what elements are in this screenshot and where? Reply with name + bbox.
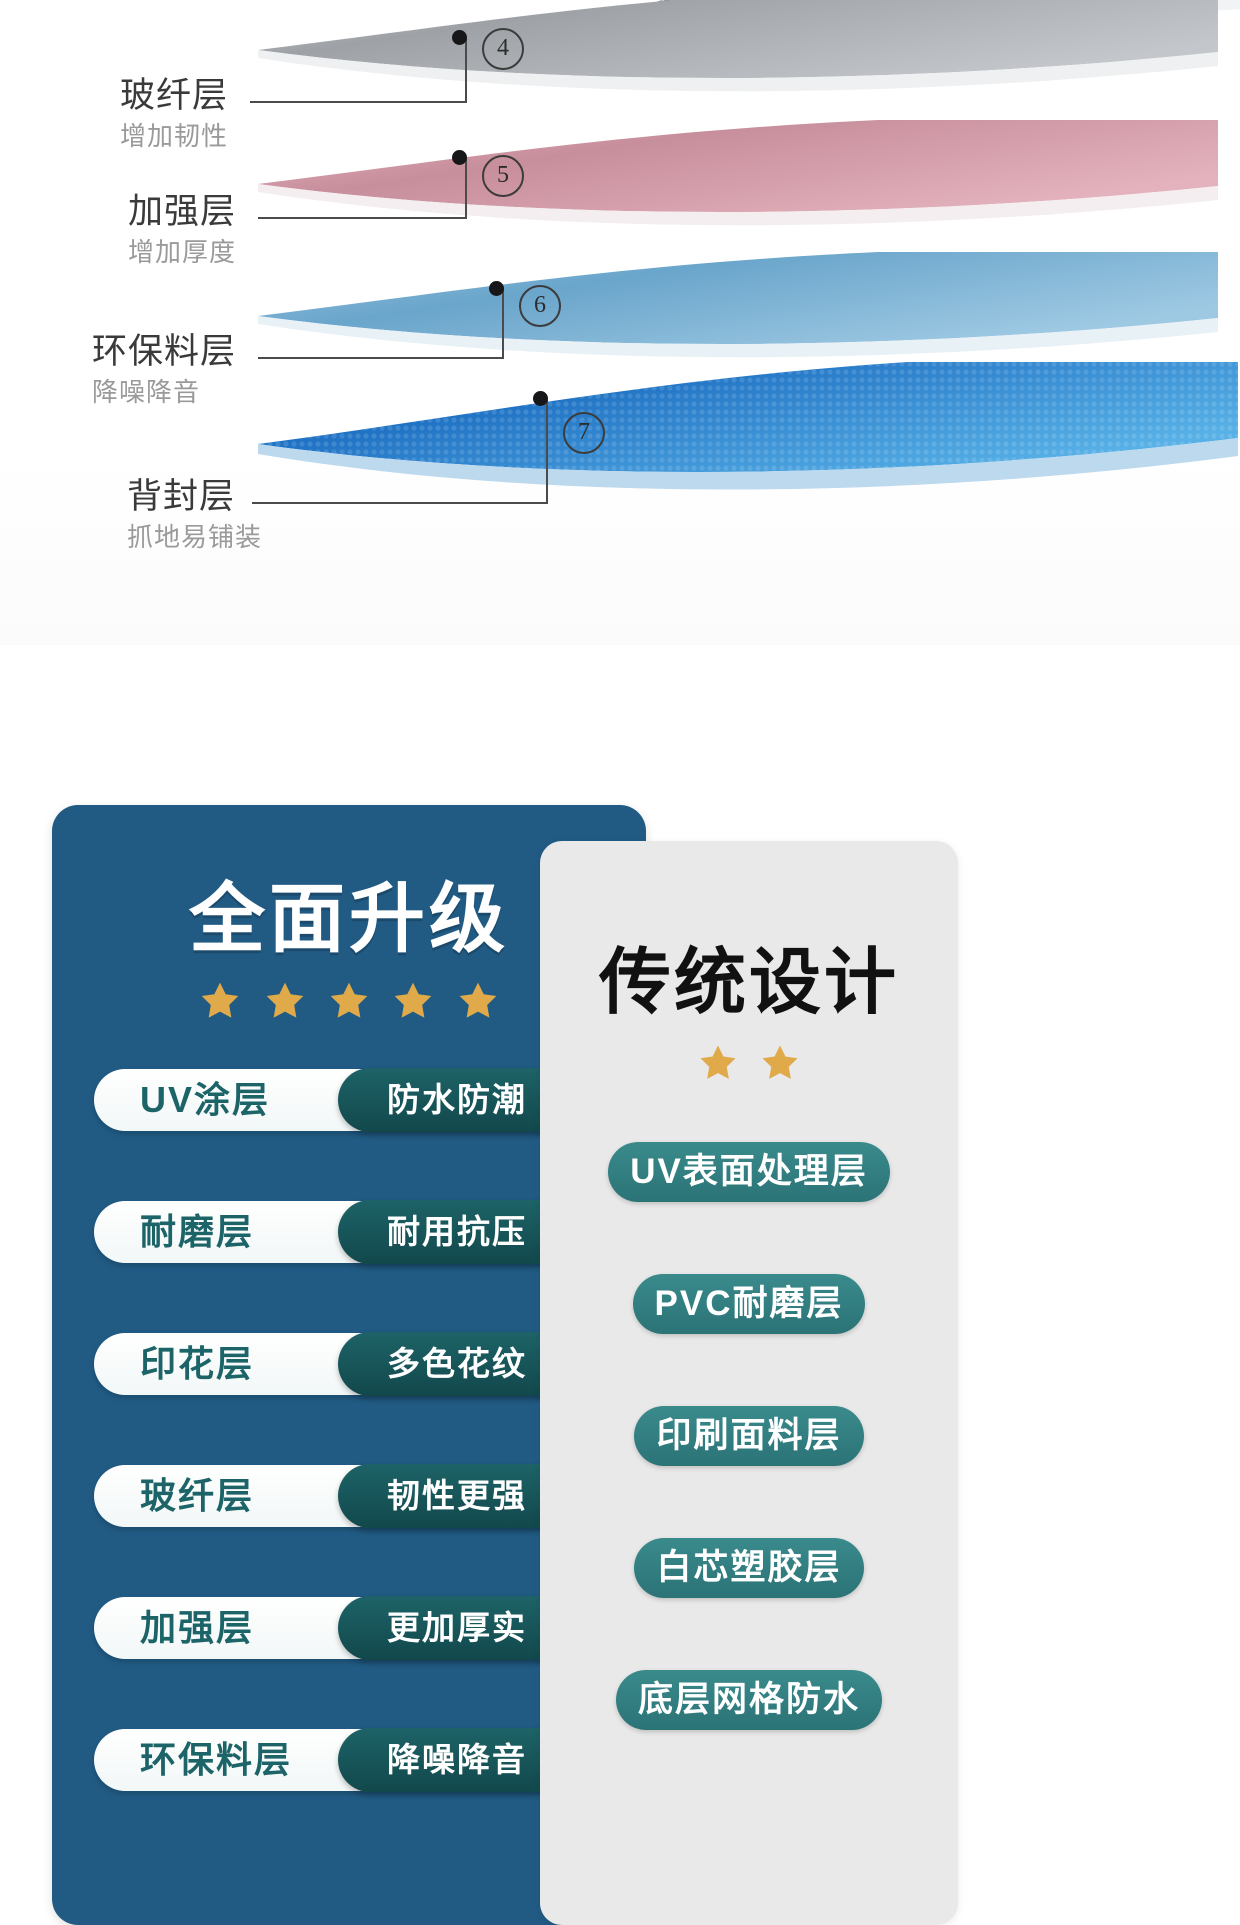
upgrade-row-label: 印花层 bbox=[140, 1333, 254, 1395]
leader-dot bbox=[489, 281, 504, 296]
upgrade-row-label: 玻纤层 bbox=[140, 1465, 254, 1527]
callout-reinforce: 加强层 增加厚度 bbox=[128, 192, 236, 269]
callout-number-4: 4 bbox=[482, 28, 524, 70]
traditional-item: UV表面处理层 bbox=[608, 1142, 890, 1202]
layer-exploded-diagram: 玻纤层 增加韧性 4 加强层 增加厚度 5 环保料层 降噪降音 6 背封层 抓地… bbox=[0, 0, 1240, 645]
callout-back-seal: 背封层 抓地易铺装 bbox=[127, 477, 262, 554]
upgrade-row-label: 加强层 bbox=[140, 1597, 254, 1659]
upgrade-row-label: UV涂层 bbox=[140, 1069, 270, 1131]
star-icon bbox=[758, 1042, 802, 1084]
star-icon bbox=[262, 979, 308, 1023]
leader-line-vertical bbox=[546, 400, 548, 504]
callout-eco-material: 环保料层 降噪降音 bbox=[92, 332, 236, 409]
upgrade-row: 玻纤层 韧性更强 bbox=[94, 1465, 566, 1527]
traditional-item: 底层网格防水 bbox=[616, 1670, 882, 1730]
callout-number-7: 7 bbox=[563, 412, 605, 454]
traditional-item: 白芯塑胶层 bbox=[634, 1538, 863, 1598]
upgrade-row: UV涂层 防水防潮 bbox=[94, 1069, 566, 1131]
leader-line-horizontal bbox=[258, 357, 504, 359]
star-icon bbox=[326, 979, 372, 1023]
upgrade-row: 印花层 多色花纹 bbox=[94, 1333, 566, 1395]
leader-line-vertical bbox=[502, 289, 504, 359]
upgrade-row: 环保料层 降噪降音 bbox=[94, 1729, 566, 1791]
leader-dot bbox=[452, 150, 467, 165]
callout-title: 背封层 bbox=[127, 477, 262, 517]
callout-title: 玻纤层 bbox=[120, 76, 228, 116]
leader-dot bbox=[452, 30, 467, 45]
leader-line-vertical bbox=[465, 38, 467, 103]
callout-subtitle: 降噪降音 bbox=[92, 375, 236, 409]
star-icon bbox=[455, 979, 501, 1023]
upgrade-row: 耐磨层 耐用抗压 bbox=[94, 1201, 566, 1263]
upgrade-row: 加强层 更加厚实 bbox=[94, 1597, 566, 1659]
traditional-item: 印刷面料层 bbox=[634, 1406, 863, 1466]
star-icon bbox=[390, 979, 436, 1023]
star-icon bbox=[197, 979, 243, 1023]
leader-line-horizontal bbox=[258, 217, 467, 219]
traditional-card: 传统设计 UV表面处理层 PVC耐磨层 印刷面料层 白芯塑胶层 底层网格防水 bbox=[540, 841, 958, 1925]
callout-title: 加强层 bbox=[128, 192, 236, 232]
sheet-back-seal bbox=[258, 352, 1238, 552]
callout-number-6: 6 bbox=[519, 285, 561, 327]
traditional-star-rating bbox=[540, 1042, 958, 1084]
leader-line-horizontal bbox=[250, 101, 467, 103]
callout-title: 环保料层 bbox=[92, 332, 236, 372]
callout-number-5: 5 bbox=[482, 155, 524, 197]
comparison-section: 全面升级 UV涂层 防水防潮 耐磨层 bbox=[0, 645, 1240, 1920]
leader-dot bbox=[533, 391, 548, 406]
leader-line-horizontal bbox=[252, 502, 548, 504]
callout-subtitle: 抓地易铺装 bbox=[127, 520, 262, 554]
callout-subtitle: 增加韧性 bbox=[120, 119, 228, 153]
upgrade-row-label: 耐磨层 bbox=[140, 1201, 254, 1263]
callout-subtitle: 增加厚度 bbox=[128, 235, 236, 269]
star-icon bbox=[696, 1042, 740, 1084]
traditional-item: PVC耐磨层 bbox=[633, 1274, 866, 1334]
callout-glass-fiber: 玻纤层 增加韧性 bbox=[120, 76, 228, 153]
upgrade-row-label: 环保料层 bbox=[140, 1729, 292, 1791]
leader-line-vertical bbox=[465, 157, 467, 219]
traditional-card-title: 传统设计 bbox=[540, 923, 958, 1028]
